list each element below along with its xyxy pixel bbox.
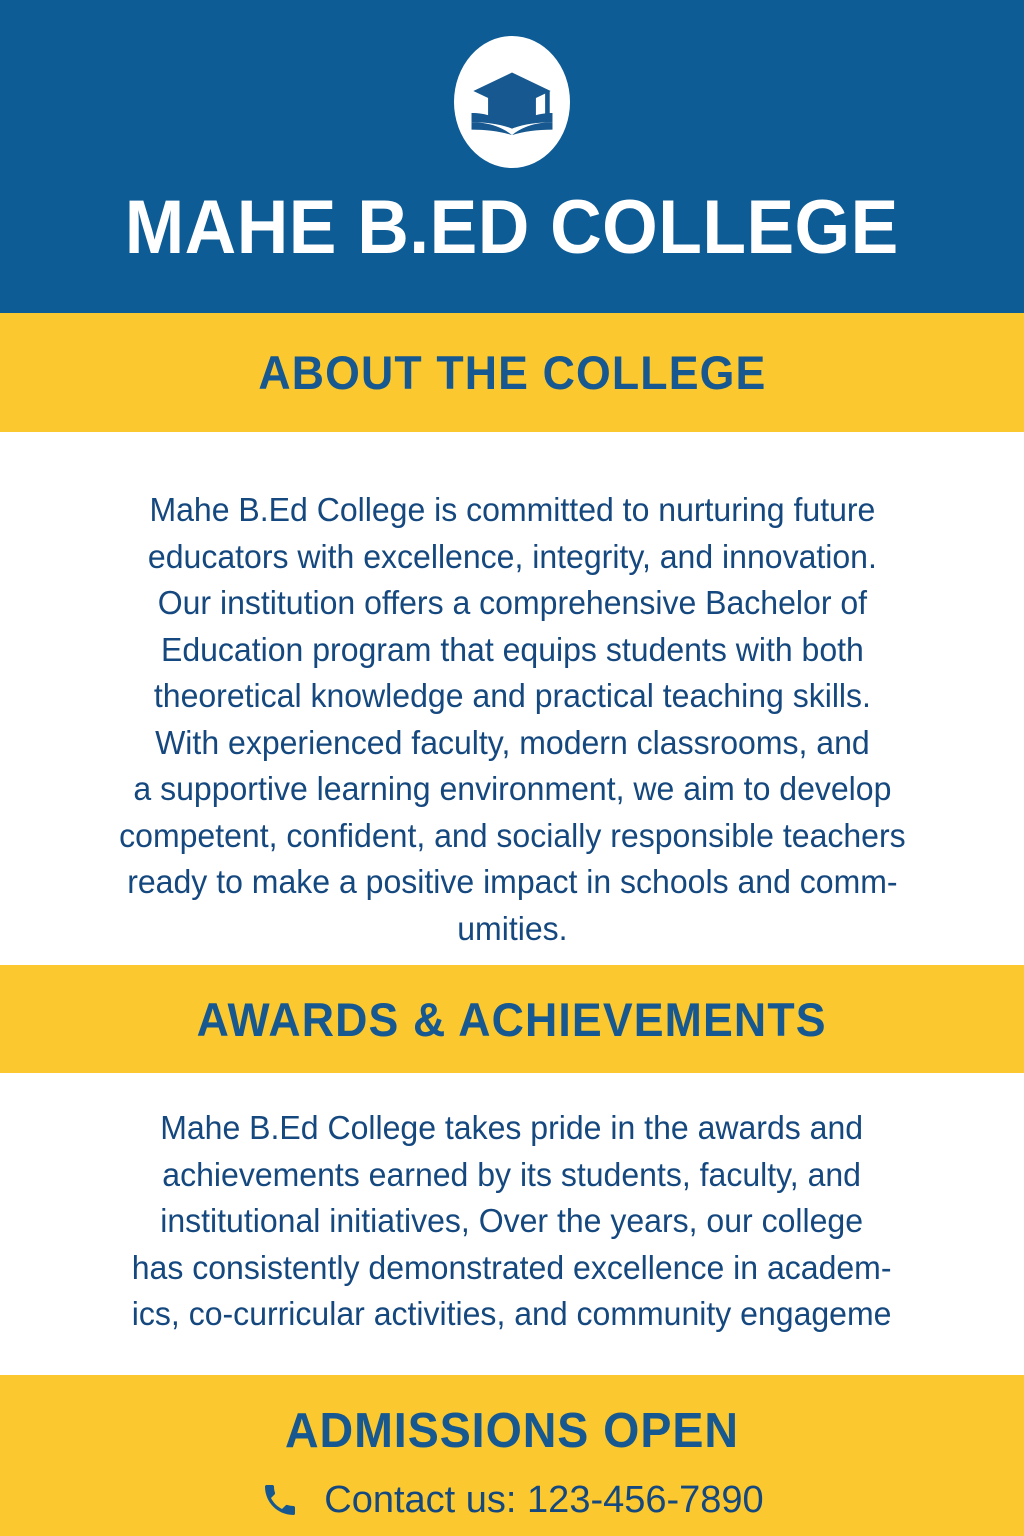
college-logo	[454, 36, 570, 168]
header-banner: MAHE B.ED COLLEGE	[0, 0, 1024, 313]
admissions-footer: ADMISSIONS OPEN Contact us: 123-456-7890	[0, 1375, 1024, 1536]
about-section-heading: ABOUT THE COLLEGE	[258, 345, 766, 400]
awards-text-block: Mahe B.Ed College takes pride in the awa…	[0, 1073, 1024, 1375]
about-text-block: Mahe B.Ed College is committed to nurtur…	[0, 432, 1024, 965]
awards-section-heading: AWARDS & ACHIEVEMENTS	[197, 992, 827, 1047]
admissions-open-heading: ADMISSIONS OPEN	[285, 1403, 739, 1459]
about-paragraph: Mahe B.Ed College is committed to nurtur…	[119, 487, 905, 952]
contact-phone-text: Contact us: 123-456-7890	[324, 1481, 763, 1519]
poster-root: MAHE B.ED COLLEGE ABOUT THE COLLEGE Mahe…	[0, 0, 1024, 1536]
awards-section-band: AWARDS & ACHIEVEMENTS	[0, 965, 1024, 1073]
contact-row[interactable]: Contact us: 123-456-7890	[260, 1480, 763, 1520]
awards-paragraph: Mahe B.Ed College takes pride in the awa…	[132, 1105, 892, 1338]
about-section-band: ABOUT THE COLLEGE	[0, 313, 1024, 432]
graduation-cap-book-icon	[466, 56, 558, 148]
college-title: MAHE B.ED COLLEGE	[125, 192, 899, 264]
phone-handset-icon	[260, 1480, 300, 1520]
